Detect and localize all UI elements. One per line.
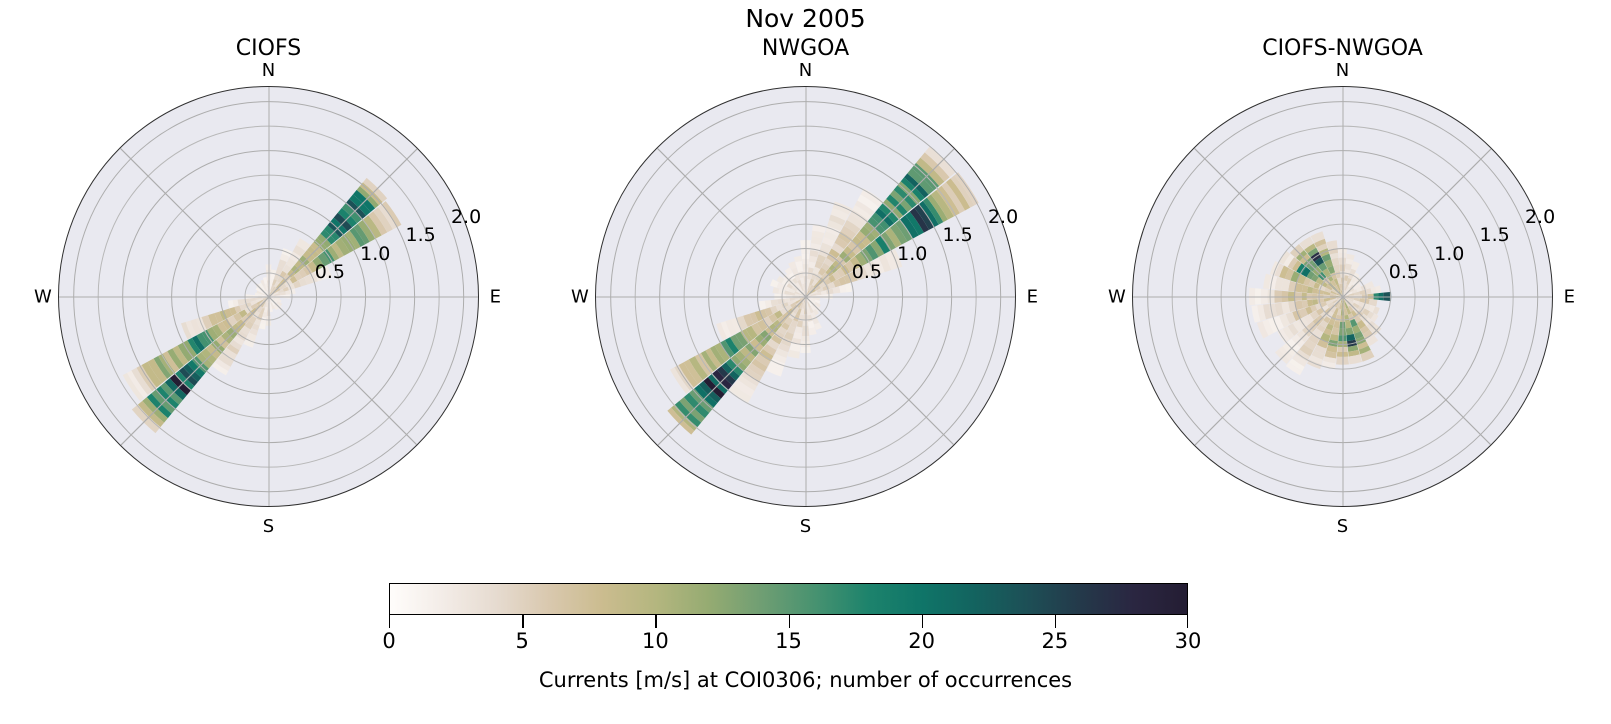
colorbar-tick-label-3: 15 <box>775 629 802 653</box>
figure-title: Nov 2005 <box>0 4 1611 33</box>
radial-tick-label-0: 0.5 <box>1389 261 1419 283</box>
colorbar-tick-6 <box>1187 615 1188 628</box>
colorbar-tick-label-6: 30 <box>1175 629 1202 653</box>
panel-title: NWGOA <box>537 36 1074 61</box>
colorbar-tick-3 <box>789 615 790 628</box>
radial-tick-label-2: 1.5 <box>943 224 973 246</box>
compass-label-north: N <box>799 60 812 81</box>
compass-label-west: W <box>1108 286 1126 307</box>
colorbar-ticks: 051015202530 <box>389 615 1188 629</box>
colorbar-tick-label-5: 25 <box>1041 629 1068 653</box>
colorbar <box>389 583 1188 615</box>
radial-tick-label-2: 1.5 <box>406 224 436 246</box>
compass-label-east: E <box>1564 286 1575 307</box>
radial-tick-label-0: 0.5 <box>315 261 345 283</box>
compass-label-south: S <box>1337 516 1348 537</box>
colorbar-tick-1 <box>522 615 523 628</box>
compass-label-north: N <box>1336 60 1349 81</box>
colorbar-tick-0 <box>389 615 390 628</box>
compass-label-south: S <box>263 516 274 537</box>
polar-axes: N S W E 0.5 1.0 1.5 2.0 <box>58 86 479 507</box>
compass-label-west: W <box>571 286 589 307</box>
radial-tick-label-1: 1.0 <box>360 243 390 265</box>
compass-label-west: W <box>34 286 52 307</box>
polar-disc <box>58 86 479 507</box>
radial-tick-label-1: 1.0 <box>1434 243 1464 265</box>
polar-panel-ciofs-minus-nwgoa: CIOFS-NWGOA N S W E 0.5 1.0 1.5 2.0 <box>1074 36 1611 581</box>
radial-tick-label-3: 2.0 <box>451 206 481 228</box>
colorbar-tick-label-4: 20 <box>908 629 935 653</box>
compass-label-north: N <box>262 60 275 81</box>
polar-disc <box>595 86 1016 507</box>
colorbar-tick-label-2: 10 <box>642 629 669 653</box>
compass-label-east: E <box>1027 286 1038 307</box>
panel-title: CIOFS <box>0 36 537 61</box>
polar-axes: N S W E 0.5 1.0 1.5 2.0 <box>595 86 1016 507</box>
panel-title: CIOFS-NWGOA <box>1074 36 1611 61</box>
compass-label-east: E <box>490 286 501 307</box>
compass-label-south: S <box>800 516 811 537</box>
radial-tick-label-0: 0.5 <box>852 261 882 283</box>
colorbar-axis-label: Currents [m/s] at COI0306; number of occ… <box>0 668 1611 692</box>
polar-disc <box>1132 86 1553 507</box>
colorbar-gradient <box>389 583 1188 615</box>
radial-tick-label-3: 2.0 <box>988 206 1018 228</box>
colorbar-tick-4 <box>922 615 923 628</box>
colorbar-tick-2 <box>655 615 656 628</box>
radial-tick-label-2: 1.5 <box>1480 224 1510 246</box>
polar-panel-ciofs: CIOFS N S W E 0.5 1.0 1.5 2.0 <box>0 36 537 581</box>
radial-tick-label-1: 1.0 <box>897 243 927 265</box>
polar-axes: N S W E 0.5 1.0 1.5 2.0 <box>1132 86 1553 507</box>
colorbar-tick-5 <box>1055 615 1056 628</box>
polar-panel-nwgoa: NWGOA N S W E 0.5 1.0 1.5 2.0 <box>537 36 1074 581</box>
radial-tick-label-3: 2.0 <box>1525 206 1555 228</box>
colorbar-tick-label-0: 0 <box>382 629 395 653</box>
colorbar-tick-label-1: 5 <box>515 629 528 653</box>
